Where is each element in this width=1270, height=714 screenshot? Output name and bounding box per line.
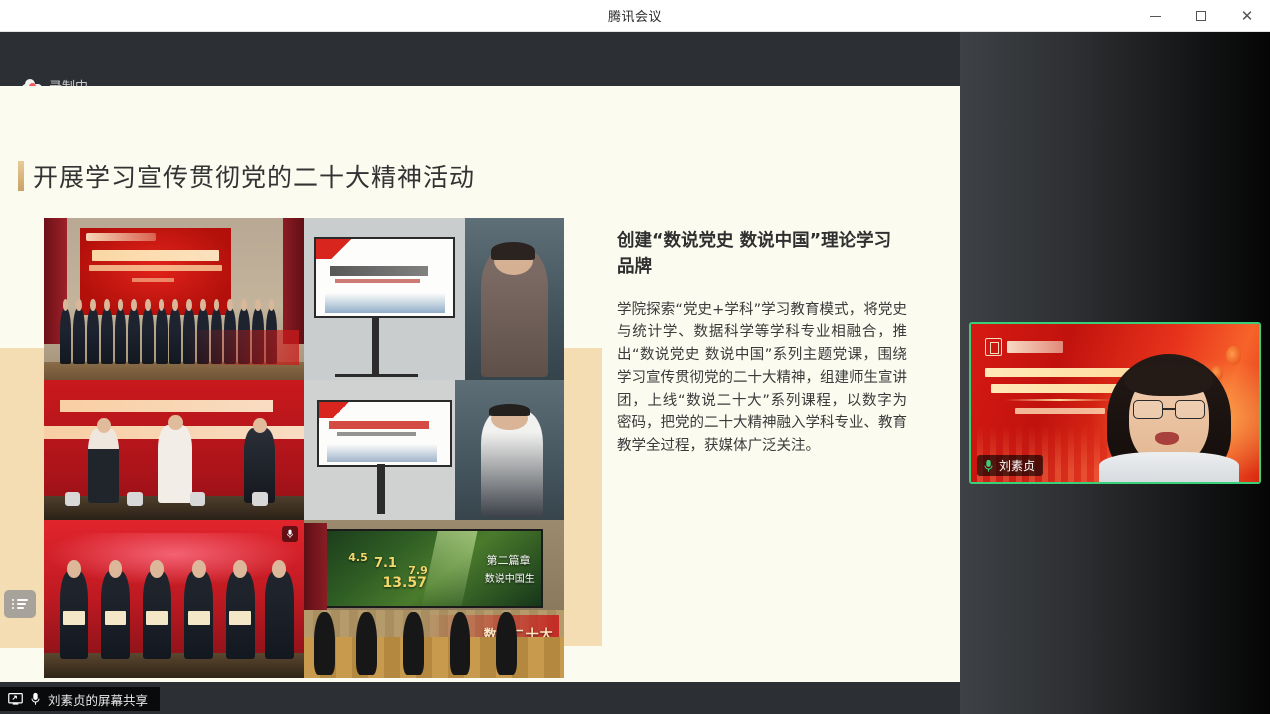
screen-number-4: 13.57 xyxy=(383,575,427,591)
title-accent-bar xyxy=(18,161,24,191)
maximize-button[interactable] xyxy=(1178,0,1224,32)
minimize-button[interactable] xyxy=(1132,0,1178,32)
photo-auditorium-big-screen: 4.5 7.1 7.9 13.57 第二篇章 数说中国生 数说二十大 筑梦新征程 xyxy=(304,520,564,678)
photo-group-photo-stage xyxy=(44,218,304,380)
minimize-icon xyxy=(1150,16,1161,17)
screen-share-banner: 刘素贞的屏幕共享 xyxy=(0,687,160,711)
photo-seminar-gdp-statistics xyxy=(304,380,564,520)
outline-icon xyxy=(12,597,28,611)
window-controls: ✕ xyxy=(1132,0,1270,32)
shared-screen-topbar xyxy=(0,32,960,84)
shared-screen-region[interactable]: 录制中 开展学习宣传贯彻党的二十大精神活动 xyxy=(0,32,960,714)
maximize-icon xyxy=(1196,11,1206,21)
photo-stage-recital-red-backdrop xyxy=(44,380,304,520)
screen-number-2: 7.1 xyxy=(374,556,397,571)
share-banner-label: 刘素贞的屏幕共享 xyxy=(48,690,148,709)
window-title: 腾讯会议 xyxy=(608,6,662,25)
tencent-meeting-window: 腾讯会议 ✕ 录制中 xyxy=(0,0,1270,714)
microphone-icon xyxy=(30,692,41,706)
screen-share-icon xyxy=(8,693,23,705)
participant-avatar-video xyxy=(1099,354,1239,484)
window-titlebar: 腾讯会议 ✕ xyxy=(0,0,1270,32)
photo-award-ceremony xyxy=(44,520,304,678)
participant-name: 刘素贞 xyxy=(999,457,1035,474)
close-button[interactable]: ✕ xyxy=(1224,0,1270,32)
outline-panel-button[interactable] xyxy=(4,590,36,618)
slide-title: 开展学习宣传贯彻党的二十大精神活动 xyxy=(33,158,475,194)
participant-video-tile[interactable]: 刘素贞 xyxy=(969,322,1261,484)
close-icon: ✕ xyxy=(1241,9,1254,24)
microphone-icon xyxy=(983,459,994,473)
university-logo xyxy=(985,340,1063,356)
slide-text-column: 创建“数说党史 数说中国”理论学习品牌 学院探索“党史+学科”学习教育模式，将党… xyxy=(617,228,907,458)
mute-indicator-icon xyxy=(282,526,298,542)
screen-chapter-title: 第二篇章 xyxy=(486,552,530,568)
slide-heading: 创建“数说党史 数说中国”理论学习品牌 xyxy=(617,228,907,281)
photo-lecture-economic-development xyxy=(304,218,564,380)
photo-collage: 4.5 7.1 7.9 13.57 第二篇章 数说中国生 数说二十大 筑梦新征程 xyxy=(44,218,564,678)
microphone-icon xyxy=(285,529,295,539)
slide-body-text: 学院探索“党史+学科”学习教育模式，将党史与统计学、数据科学等学科专业相融合，推… xyxy=(617,299,907,458)
presentation-slide: 开展学习宣传贯彻党的二十大精神活动 xyxy=(0,86,960,682)
screen-chapter-subtitle: 数说中国生 xyxy=(485,570,535,585)
slide-title-row: 开展学习宣传贯彻党的二十大精神活动 xyxy=(18,158,475,194)
meeting-stage: 录制中 开展学习宣传贯彻党的二十大精神活动 xyxy=(0,32,1270,714)
participant-name-badge: 刘素贞 xyxy=(977,455,1043,476)
screen-number-1: 4.5 xyxy=(348,551,368,564)
